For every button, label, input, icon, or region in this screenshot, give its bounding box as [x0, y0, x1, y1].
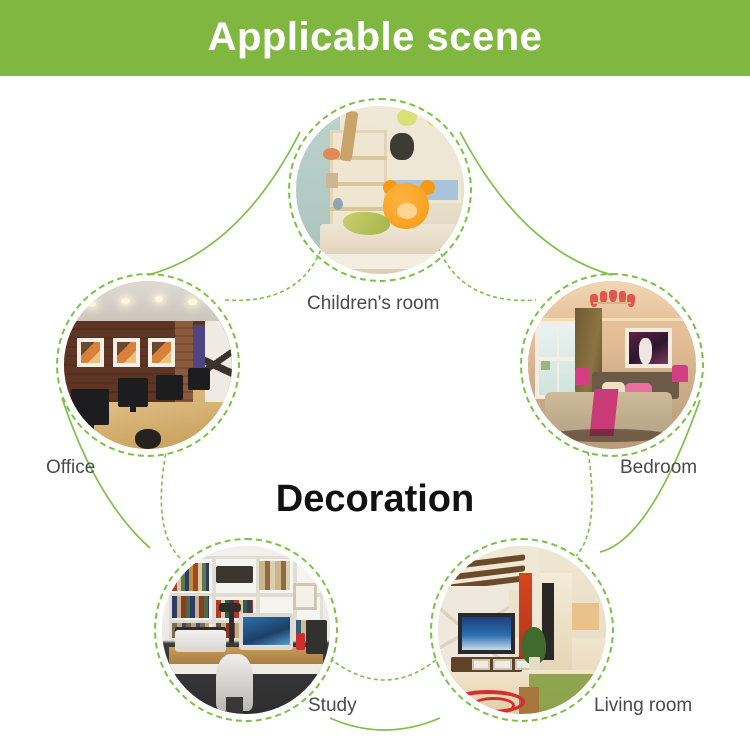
ring-office: [56, 273, 240, 457]
applicable-scene-page: Applicable scene: [0, 0, 750, 750]
ring-bedroom: [520, 273, 704, 457]
ring-childrens-room: [288, 98, 472, 282]
label-office: Office: [46, 457, 95, 479]
label-childrens-room: Children's room: [307, 293, 439, 315]
ring-living-room: [430, 538, 614, 722]
label-living-room: Living room: [594, 695, 692, 717]
label-bedroom: Bedroom: [620, 457, 697, 479]
page-title: Applicable scene: [208, 17, 543, 57]
scene-diagram: Decoration: [0, 76, 750, 750]
header-banner: Applicable scene: [0, 0, 750, 76]
node-childrens-room[interactable]: [288, 98, 472, 282]
node-living-room[interactable]: [430, 538, 614, 722]
center-label: Decoration: [0, 478, 750, 521]
label-study: Study: [308, 695, 357, 717]
node-bedroom[interactable]: [520, 273, 704, 457]
node-office[interactable]: [56, 273, 240, 457]
